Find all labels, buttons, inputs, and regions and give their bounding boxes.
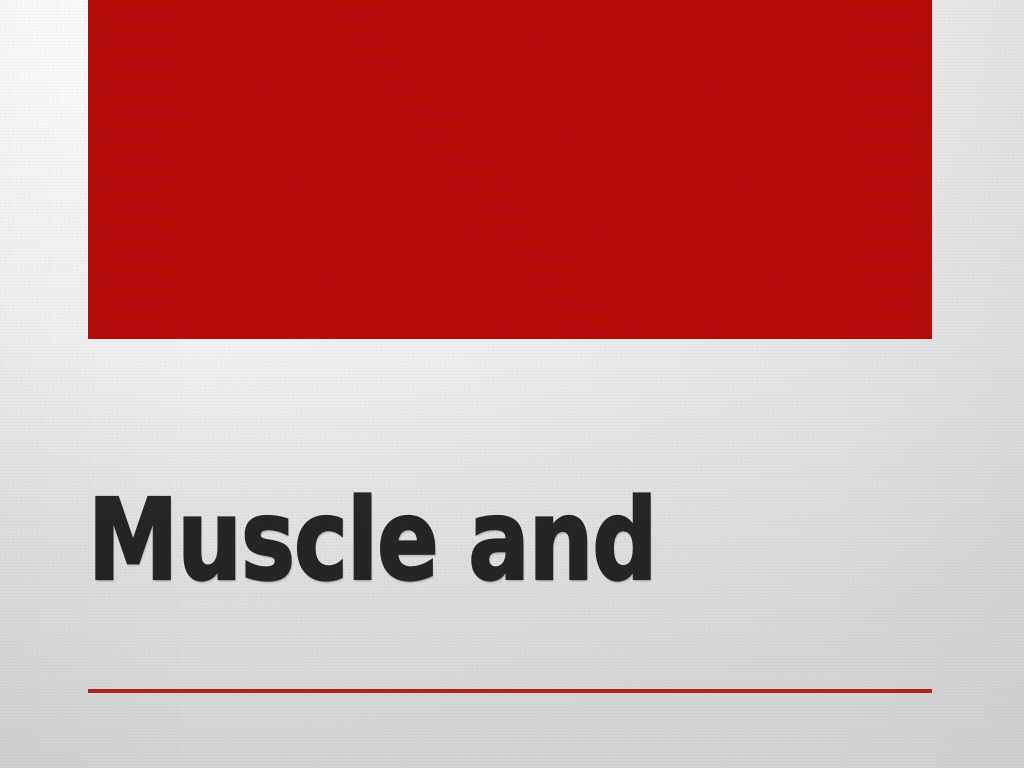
red-horizontal-rule <box>88 689 932 693</box>
slide-title-line-1: Muscle and <box>88 482 880 600</box>
slide-subtitle <box>88 600 932 684</box>
title-slide: Muscle and Tendon Disorders <box>0 0 1024 768</box>
